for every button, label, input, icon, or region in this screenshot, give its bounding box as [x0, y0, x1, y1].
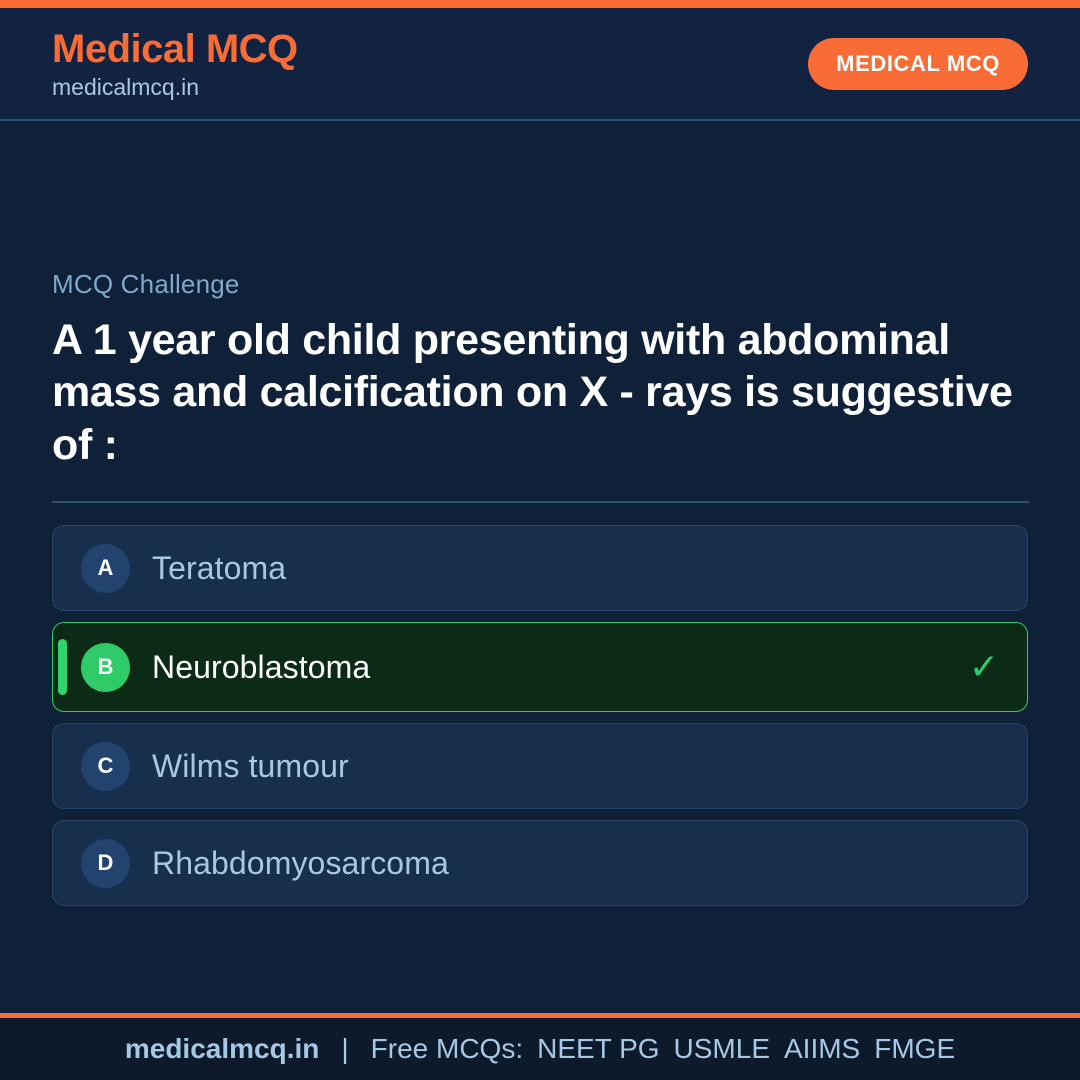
- option-label: Neuroblastoma: [152, 649, 370, 686]
- option-label: Teratoma: [152, 550, 286, 587]
- footer-label: Free MCQs:: [371, 1033, 523, 1065]
- option-label: Wilms tumour: [152, 748, 349, 785]
- question-text: A 1 year old child presenting with abdom…: [52, 314, 1028, 471]
- option-a[interactable]: A Teratoma ✓: [52, 525, 1028, 611]
- option-letter-badge: C: [81, 742, 130, 791]
- footer-exam-usmle: USMLE: [674, 1033, 770, 1065]
- option-label: Rhabdomyosarcoma: [152, 845, 449, 882]
- mcq-card: Medical MCQ medicalmcq.in MEDICAL MCQ MC…: [0, 0, 1080, 1080]
- eyebrow-label: MCQ Challenge: [52, 269, 1028, 300]
- footer-exam-neetpg: NEET PG: [537, 1033, 659, 1065]
- brand-subtitle: medicalmcq.in: [52, 76, 298, 99]
- footer-exam-fmge: FMGE: [874, 1033, 955, 1065]
- option-c[interactable]: C Wilms tumour ✓: [52, 723, 1028, 809]
- footer-text: medicalmcq.in | Free MCQs: NEET PG USMLE…: [125, 1033, 955, 1065]
- option-letter-badge: A: [81, 544, 130, 593]
- option-b[interactable]: B Neuroblastoma ✓: [52, 622, 1028, 712]
- footer-separator: |: [341, 1033, 348, 1065]
- header: Medical MCQ medicalmcq.in MEDICAL MCQ: [0, 8, 1080, 121]
- brand-title: Medical MCQ: [52, 29, 298, 69]
- top-accent-strip: [0, 0, 1080, 8]
- brand-block: Medical MCQ medicalmcq.in: [52, 29, 298, 99]
- correct-accent-bar: [58, 639, 67, 695]
- footer-site: medicalmcq.in: [125, 1033, 320, 1065]
- check-icon: ✓: [969, 649, 999, 685]
- option-d[interactable]: D Rhabdomyosarcoma ✓: [52, 820, 1028, 906]
- question-divider: [52, 501, 1029, 503]
- main-content: MCQ Challenge A 1 year old child present…: [0, 121, 1080, 1013]
- header-badge: MEDICAL MCQ: [808, 38, 1028, 90]
- option-letter-badge: B: [81, 643, 130, 692]
- options-list: A Teratoma ✓ B Neuroblastoma ✓ C Wilms t…: [52, 525, 1028, 906]
- footer-exam-aiims: AIIMS: [784, 1033, 860, 1065]
- footer: medicalmcq.in | Free MCQs: NEET PG USMLE…: [0, 1013, 1080, 1080]
- option-letter-badge: D: [81, 839, 130, 888]
